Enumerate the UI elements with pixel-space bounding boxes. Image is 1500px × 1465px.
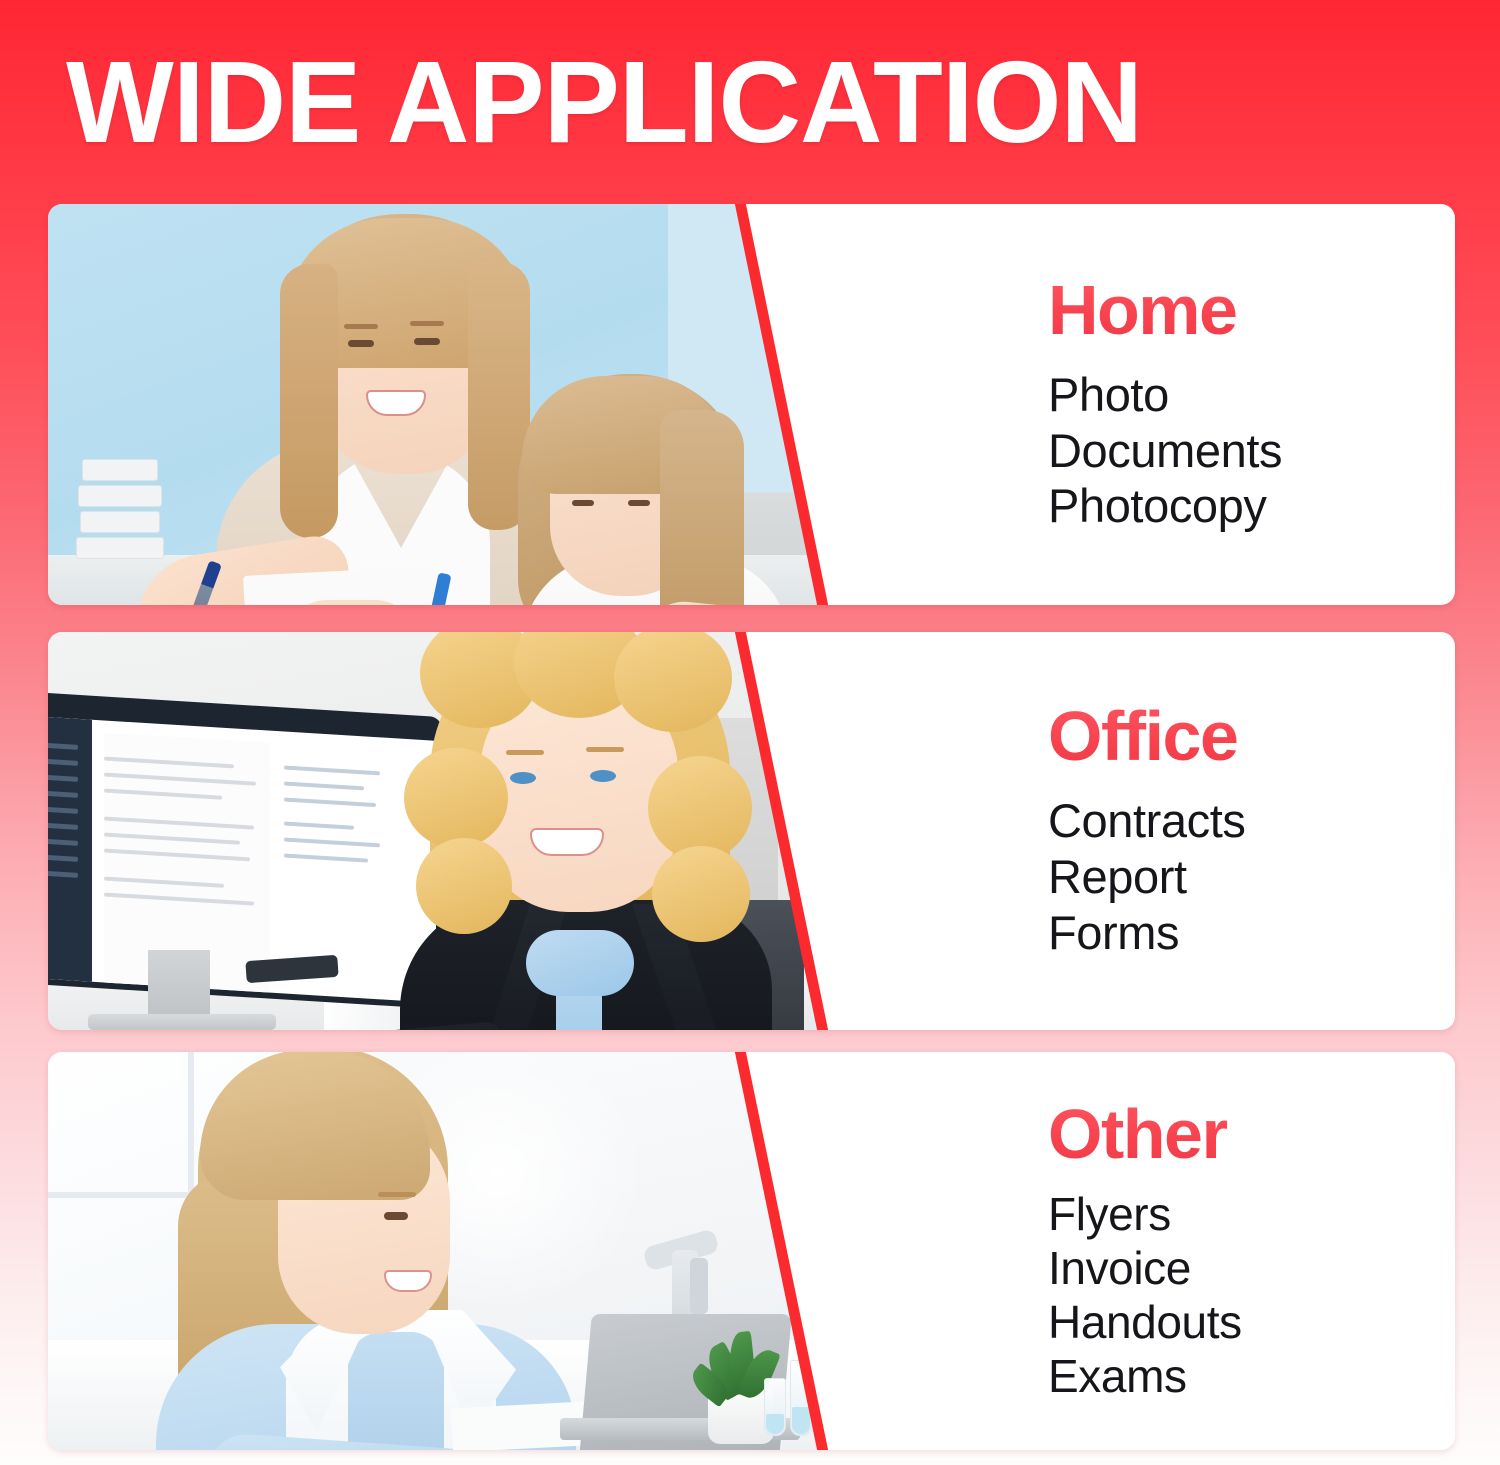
adult-smile bbox=[366, 390, 426, 416]
application-card-home: Home Photo Documents Photocopy bbox=[48, 204, 1455, 605]
hair-curl bbox=[416, 838, 512, 934]
wide-application-poster: WIDE APPLICATION bbox=[0, 0, 1500, 1465]
woman-smile bbox=[530, 828, 604, 856]
adult-eye-right bbox=[414, 338, 440, 345]
card-list-office: Contracts Report Forms bbox=[1048, 793, 1455, 961]
page-title: WIDE APPLICATION bbox=[66, 42, 1228, 162]
list-item: Forms bbox=[1048, 905, 1455, 961]
card-list-home: Photo Documents Photocopy bbox=[1048, 367, 1455, 535]
desktop-monitor bbox=[48, 691, 442, 1009]
child-hair-right bbox=[660, 410, 744, 605]
card-copy-home: Home Photo Documents Photocopy bbox=[878, 204, 1455, 605]
adult-eyebrow-left bbox=[344, 324, 378, 329]
monitor-base bbox=[88, 1014, 276, 1030]
card-title-other: Other bbox=[1048, 1099, 1227, 1169]
hair-curl bbox=[404, 748, 508, 848]
hair-curl bbox=[652, 846, 750, 942]
woman-smile bbox=[384, 1270, 432, 1292]
woman-eye-left bbox=[510, 772, 536, 784]
list-item: Invoice bbox=[1048, 1241, 1455, 1295]
list-item: Documents bbox=[1048, 423, 1455, 479]
list-item: Handouts bbox=[1048, 1295, 1455, 1349]
hair-curl bbox=[648, 756, 752, 860]
adult-eyebrow-right bbox=[410, 321, 444, 326]
woman-eye bbox=[384, 1212, 408, 1220]
app-sidebar bbox=[48, 715, 92, 982]
card-list-other: Flyers Invoice Handouts Exams bbox=[1048, 1187, 1455, 1403]
card-title-office: Office bbox=[1048, 701, 1237, 771]
list-item: Photocopy bbox=[1048, 478, 1455, 534]
adult-eye-left bbox=[348, 340, 374, 347]
card-copy-other: Other Flyers Invoice Handouts Exams bbox=[878, 1052, 1455, 1450]
list-item: Report bbox=[1048, 849, 1455, 905]
application-card-office: Office Contracts Report Forms bbox=[48, 632, 1455, 1030]
book-stack bbox=[76, 441, 164, 559]
microscope-objective bbox=[690, 1258, 708, 1314]
list-item: Flyers bbox=[1048, 1187, 1455, 1241]
card-title-home: Home bbox=[1048, 275, 1236, 345]
woman-shirt bbox=[348, 1332, 444, 1450]
list-item: Contracts bbox=[1048, 793, 1455, 849]
card-copy-office: Office Contracts Report Forms bbox=[878, 632, 1455, 1030]
test-tube bbox=[764, 1378, 786, 1436]
list-item: Photo bbox=[1048, 367, 1455, 423]
application-card-other: Other Flyers Invoice Handouts Exams bbox=[48, 1052, 1455, 1450]
monitor-screen bbox=[48, 715, 436, 1003]
list-item: Exams bbox=[1048, 1349, 1455, 1403]
woman-eyebrow bbox=[378, 1192, 416, 1197]
woman-eye-right bbox=[590, 770, 616, 782]
woman-bow-tie bbox=[526, 930, 634, 996]
woman-eyebrow-left bbox=[506, 750, 544, 755]
woman-eyebrow-right bbox=[586, 747, 624, 752]
monitor-stand bbox=[148, 950, 210, 1024]
adult-hair-left bbox=[280, 264, 338, 538]
detail-pane bbox=[284, 743, 388, 749]
child-eye-left bbox=[572, 500, 594, 506]
child-eye-right bbox=[628, 500, 650, 506]
